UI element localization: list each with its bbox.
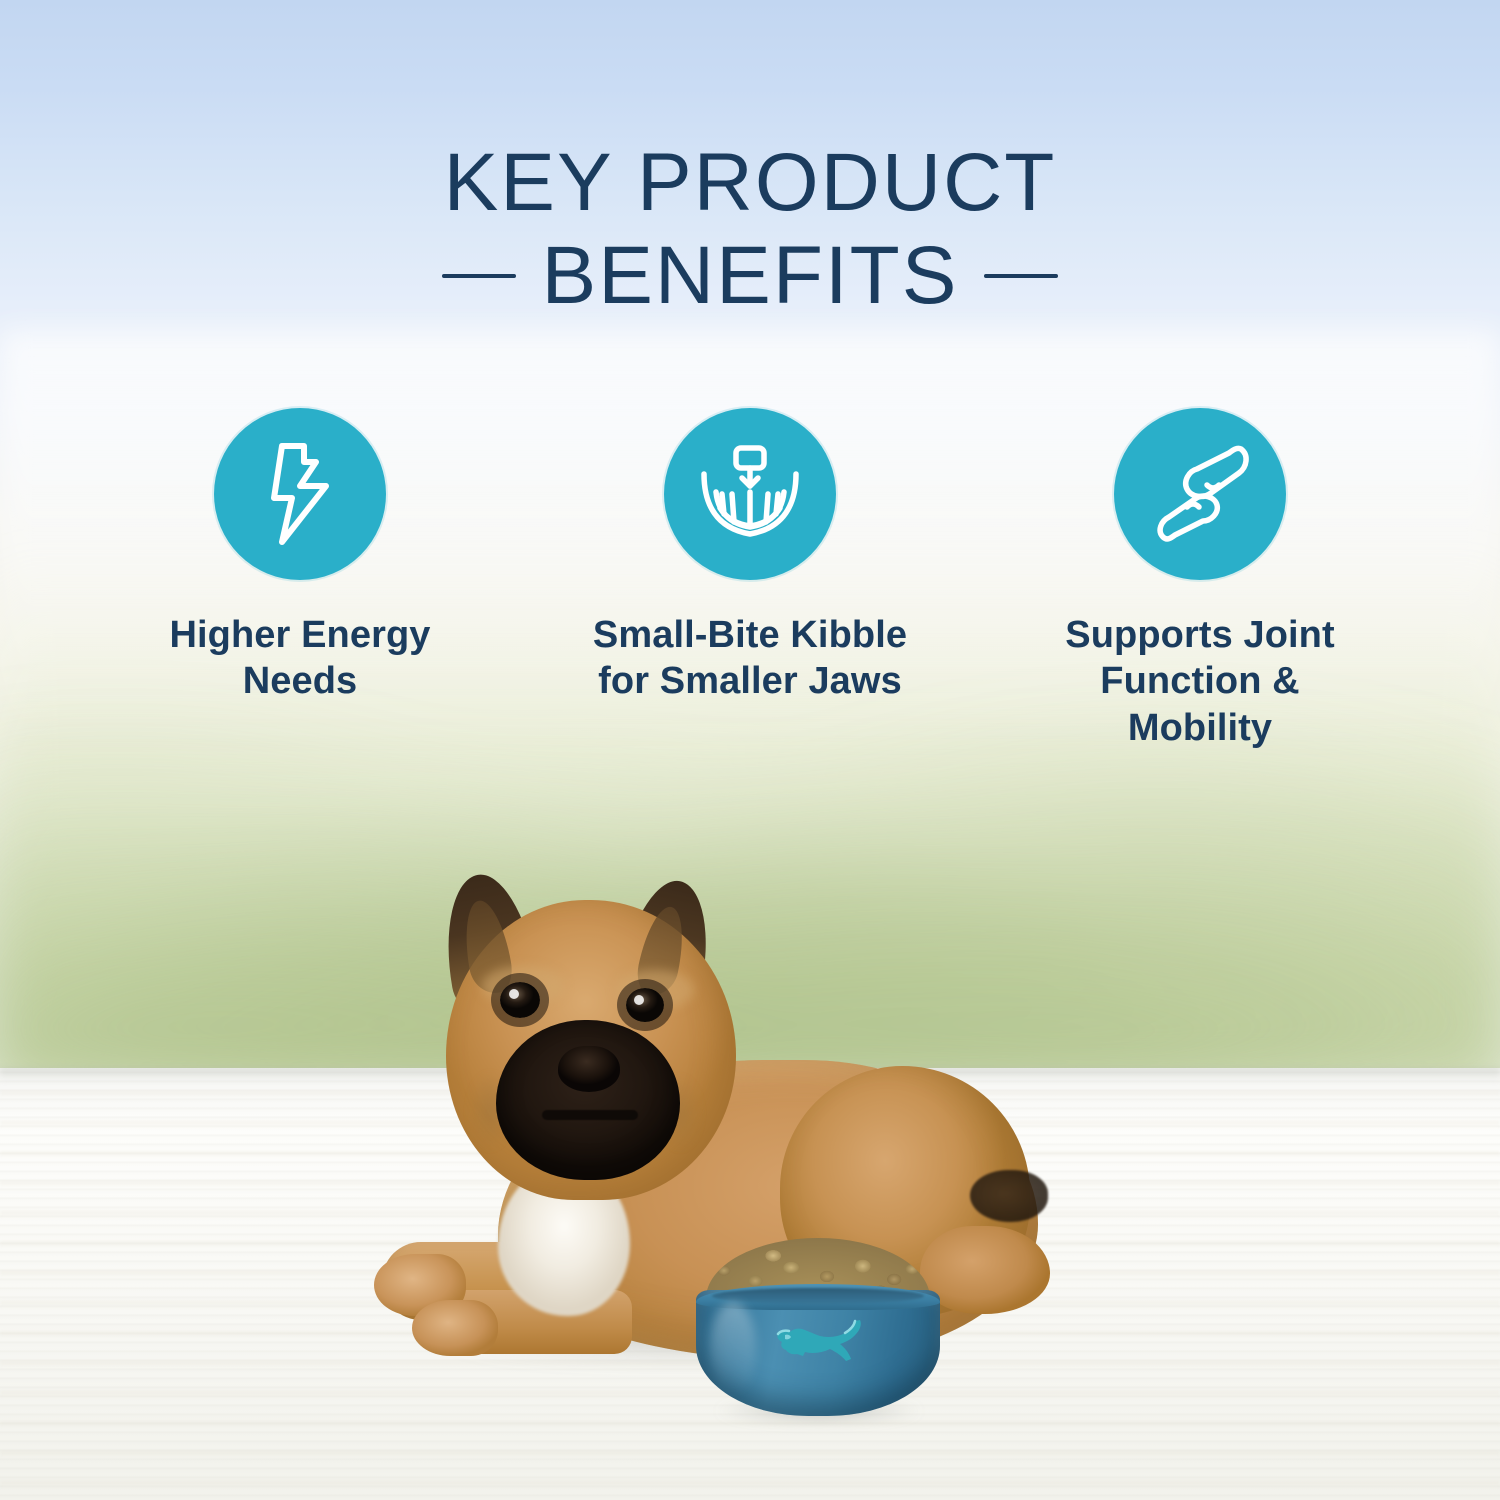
benefit-label: Higher Energy Needs — [130, 612, 470, 705]
benefit-item-joint-function: Supports Joint Function & Mobility — [1020, 408, 1380, 751]
benefit-item-small-bite-kibble: Small-Bite Kibble for Smaller Jaws — [570, 408, 930, 705]
product-benefits-banner: KEY PRODUCT BENEFITS Higher Energy Needs — [0, 0, 1500, 1500]
benefit-item-higher-energy: Higher Energy Needs — [120, 408, 480, 705]
dash-right-icon — [984, 274, 1058, 278]
dog-eye-right — [626, 988, 664, 1022]
benefit-label: Small-Bite Kibble for Smaller Jaws — [580, 612, 920, 705]
page-title-line-2: BENEFITS — [542, 233, 959, 320]
page-title-line-2-row: BENEFITS — [0, 233, 1500, 320]
bowl-highlight — [710, 1302, 756, 1396]
dog-front-paw-second — [412, 1300, 498, 1356]
bone-joint-icon — [1145, 441, 1255, 547]
benefits-row: Higher Energy Needs — [120, 408, 1380, 751]
product-photo — [330, 870, 1060, 1500]
dog-mouth — [542, 1110, 638, 1120]
benefit-icon-circle — [1114, 408, 1286, 580]
lightning-bolt-icon — [252, 440, 348, 548]
dog-eye-highlight — [509, 989, 519, 999]
dog-eye-highlight — [634, 995, 644, 1005]
dog-muzzle — [496, 1020, 680, 1180]
bison-logo-icon — [772, 1312, 868, 1368]
dog-food-bowl — [696, 1238, 940, 1418]
dog-eye-left — [500, 982, 540, 1018]
benefit-icon-circle — [214, 408, 386, 580]
dash-left-icon — [442, 274, 516, 278]
page-title: KEY PRODUCT BENEFITS — [0, 140, 1500, 320]
jaw-kibble-icon — [694, 442, 806, 546]
benefit-icon-circle — [664, 408, 836, 580]
dog-nose — [558, 1046, 620, 1092]
benefit-label: Supports Joint Function & Mobility — [1030, 612, 1370, 751]
dog-tail — [970, 1170, 1048, 1222]
bowl-rim-inner-shadow — [712, 1288, 924, 1304]
page-title-line-1: KEY PRODUCT — [0, 140, 1500, 227]
